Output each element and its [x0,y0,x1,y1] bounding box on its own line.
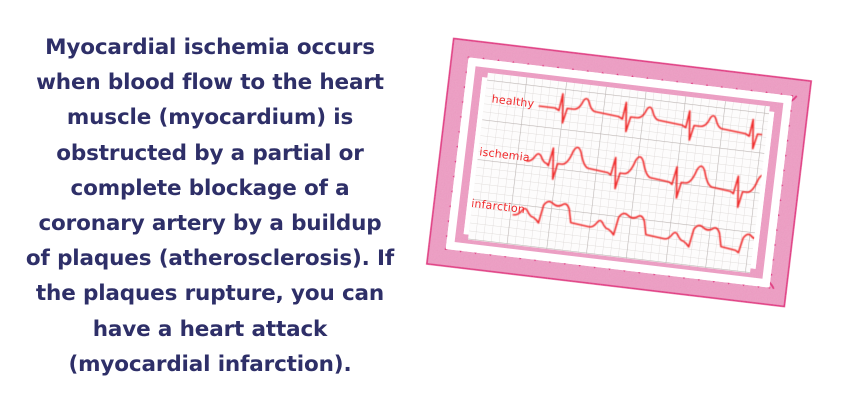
description-text-block: Myocardial ischemia occurs when blood fl… [18,30,402,382]
ecg-strip-card: healthy ischemia infarction [423,35,814,310]
text-line: when blood flow to the heart [18,65,402,100]
infographic-canvas: Myocardial ischemia occurs when blood fl… [0,0,845,400]
text-line: Myocardial ischemia occurs [18,30,402,65]
text-line: muscle (myocardium) is [18,100,402,135]
text-line: (myocardial infarction). [18,347,402,382]
text-line: obstructed by a partial or [18,136,402,171]
text-line: the plaques rupture, you can [18,276,402,311]
text-line: of plaques (atherosclerosis). If [18,241,402,276]
ecg-card-container: healthy ischemia infarction [406,18,831,348]
text-line: have a heart attack [18,312,402,347]
text-line: coronary artery by a buildup [18,206,402,241]
text-line: complete blockage of a [18,171,402,206]
